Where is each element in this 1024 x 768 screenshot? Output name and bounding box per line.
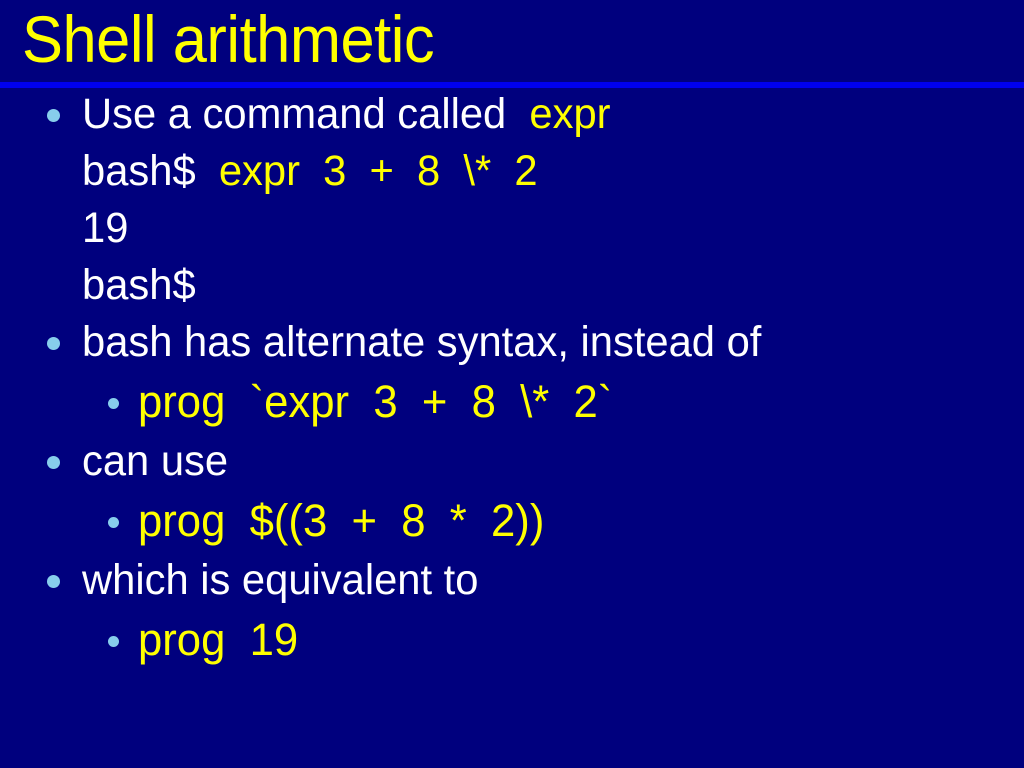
bullet-text: which is equivalent to [82,554,478,607]
text-span: 19 [82,204,128,252]
bullet-disc-icon [47,109,60,122]
text-span: can use [82,437,228,485]
code-span: prog `expr 3 + 8 \* 2` [138,376,612,427]
text-span: which is equivalent to [82,556,478,604]
code-span: prog 19 [138,614,298,665]
bullet-text: bash$ [82,259,196,312]
slide-body: Use a command called exprbash$ expr 3 + … [0,88,1024,768]
bullet-disc-icon [47,575,60,588]
bullet-text: 19 [82,202,128,255]
text-span: bash$ [82,261,196,309]
bullet-disc-icon [47,456,60,469]
continuation-line: 19 [0,202,1024,259]
slide: Shell arithmetic Use a command called ex… [0,0,1024,768]
code-span: expr [529,90,610,138]
bullet-item: which is equivalent to [0,554,1024,611]
bullet-item: can use [0,435,1024,492]
continuation-line: bash$ expr 3 + 8 \* 2 [0,145,1024,202]
continuation-line: bash$ [0,259,1024,316]
bullet-text: bash has alternate syntax, instead of [82,316,761,369]
bullet-item: prog `expr 3 + 8 \* 2` [0,373,1024,435]
text-span: Use a command called [82,90,529,138]
code-span: prog $((3 + 8 * 2)) [138,495,544,546]
code-span: expr 3 + 8 \* 2 [219,147,538,195]
bullet-text: prog $((3 + 8 * 2)) [138,492,544,549]
bullet-disc-icon [47,337,60,350]
bullet-text: bash$ expr 3 + 8 \* 2 [82,145,538,198]
bullet-item: prog 19 [0,611,1024,673]
text-span: bash$ [82,147,219,195]
bullet-disc-icon [108,517,119,528]
text-span: bash has alternate syntax, instead of [82,318,761,366]
page-title: Shell arithmetic [22,3,434,75]
bullet-text: can use [82,435,228,488]
bullet-item: bash has alternate syntax, instead of [0,316,1024,373]
slide-title-area: Shell arithmetic [0,0,1024,83]
bullet-item: prog $((3 + 8 * 2)) [0,492,1024,554]
bullet-disc-icon [108,398,119,409]
bullet-item: Use a command called expr [0,88,1024,145]
bullet-disc-icon [108,636,119,647]
bullet-text: prog 19 [138,611,298,668]
bullet-text: Use a command called expr [82,88,611,141]
bullet-text: prog `expr 3 + 8 \* 2` [138,373,612,430]
